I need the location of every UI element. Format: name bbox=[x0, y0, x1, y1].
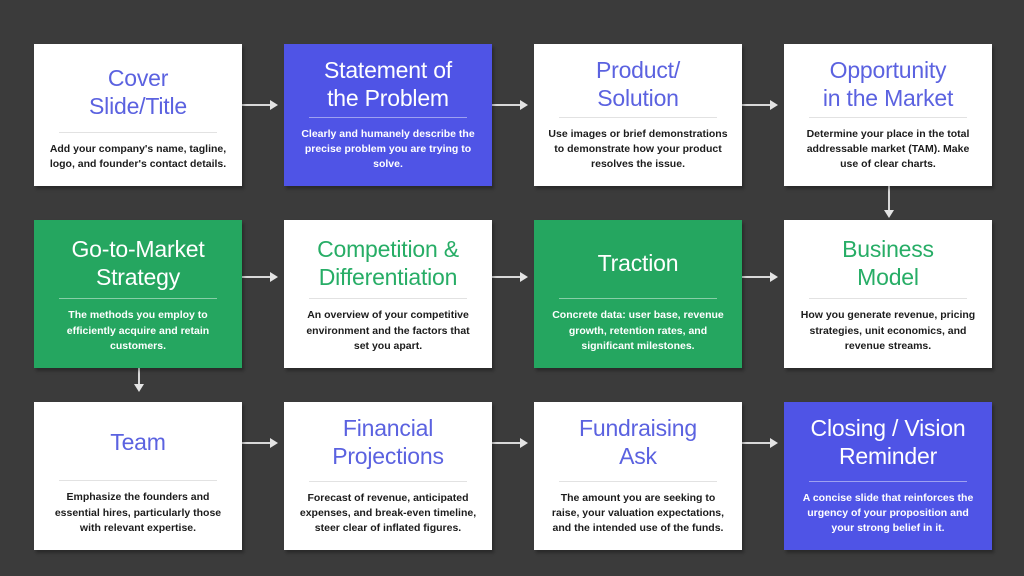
card-description: Forecast of revenue, anticipated expense… bbox=[296, 491, 480, 539]
card-competition-differentiation[interactable]: Competition &Differentiation An overview… bbox=[284, 220, 492, 368]
card-divider bbox=[809, 481, 967, 482]
card-go-to-market-strategy[interactable]: Go-to-MarketStrategy The methods you emp… bbox=[34, 220, 242, 368]
card-business-model[interactable]: BusinessModel How you generate revenue, … bbox=[784, 220, 992, 368]
card-divider bbox=[559, 117, 717, 118]
card-product-solution[interactable]: Product/Solution Use images or brief dem… bbox=[534, 44, 742, 186]
card-title: Go-to-MarketStrategy bbox=[46, 230, 230, 298]
card-description: The methods you employ to efficiently ac… bbox=[46, 308, 230, 356]
card-title: Product/Solution bbox=[546, 54, 730, 117]
card-fundraising-ask[interactable]: FundraisingAsk The amount you are seekin… bbox=[534, 402, 742, 550]
card-title: Statement ofthe Problem bbox=[296, 54, 480, 117]
card-divider bbox=[309, 481, 467, 482]
card-description: Emphasize the founders and essential hir… bbox=[46, 490, 230, 538]
card-team[interactable]: Team Emphasize the founders and essentia… bbox=[34, 402, 242, 550]
card-title: Opportunityin the Market bbox=[796, 54, 980, 117]
card-description: Clearly and humanely describe the precis… bbox=[296, 127, 480, 175]
card-title: FundraisingAsk bbox=[546, 412, 730, 481]
card-title: FinancialProjections bbox=[296, 412, 480, 481]
card-description: A concise slide that reinforces the urge… bbox=[796, 491, 980, 539]
card-divider bbox=[59, 132, 217, 133]
card-divider bbox=[559, 298, 717, 299]
slide-card-grid: CoverSlide/Title Add your company's name… bbox=[34, 44, 990, 550]
card-description: Concrete data: user base, revenue growth… bbox=[546, 308, 730, 356]
card-title: Team bbox=[46, 412, 230, 480]
card-description: Determine your place in the total addres… bbox=[796, 127, 980, 175]
card-divider bbox=[809, 117, 967, 118]
card-closing-vision-reminder[interactable]: Closing / VisionReminder A concise slide… bbox=[784, 402, 992, 550]
card-financial-projections[interactable]: FinancialProjections Forecast of revenue… bbox=[284, 402, 492, 550]
card-title: Competition &Differentiation bbox=[296, 230, 480, 298]
card-divider bbox=[59, 298, 217, 299]
card-cover-slide-title[interactable]: CoverSlide/Title Add your company's name… bbox=[34, 44, 242, 186]
pitch-deck-flow-diagram: CoverSlide/Title Add your company's name… bbox=[0, 0, 1024, 576]
card-divider bbox=[309, 117, 467, 118]
card-divider bbox=[559, 481, 717, 482]
card-divider bbox=[809, 298, 967, 299]
card-description: An overview of your competitive environm… bbox=[296, 308, 480, 356]
card-description: Use images or brief demonstrations to de… bbox=[546, 127, 730, 175]
card-title: BusinessModel bbox=[796, 230, 980, 298]
card-description: How you generate revenue, pricing strate… bbox=[796, 308, 980, 356]
card-divider bbox=[59, 480, 217, 481]
card-opportunity-in-the-market[interactable]: Opportunityin the Market Determine your … bbox=[784, 44, 992, 186]
card-description: The amount you are seeking to raise, you… bbox=[546, 491, 730, 539]
card-description: Add your company's name, tagline, logo, … bbox=[46, 142, 230, 174]
card-title: Traction bbox=[546, 230, 730, 298]
card-traction[interactable]: Traction Concrete data: user base, reven… bbox=[534, 220, 742, 368]
card-divider bbox=[309, 298, 467, 299]
card-title: CoverSlide/Title bbox=[46, 54, 230, 132]
card-statement-of-the-problem[interactable]: Statement ofthe Problem Clearly and huma… bbox=[284, 44, 492, 186]
card-title: Closing / VisionReminder bbox=[796, 412, 980, 481]
